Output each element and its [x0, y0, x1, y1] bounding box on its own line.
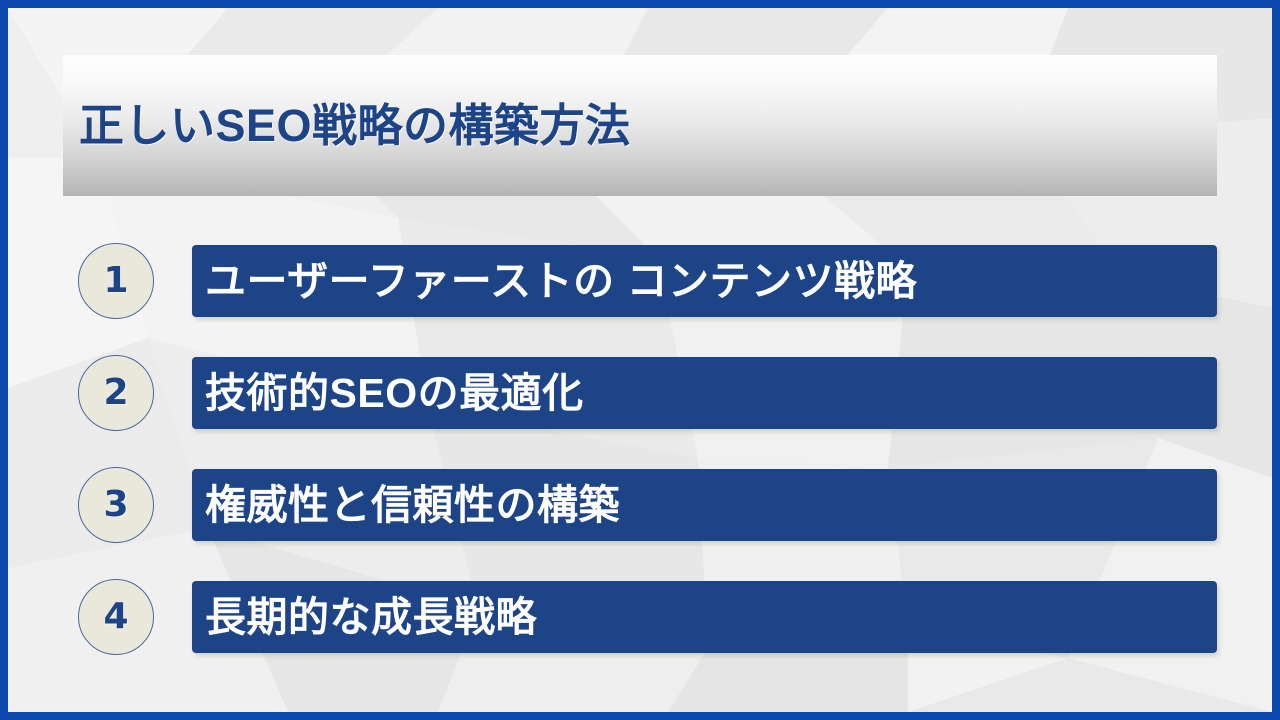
item-bar[interactable]: 長期的な成長戦略: [192, 581, 1217, 653]
item-label: 長期的な成長戦略: [205, 597, 537, 638]
list-item[interactable]: 4 長期的な成長戦略: [8, 579, 1272, 657]
item-number-badge: 4: [78, 579, 154, 655]
item-bar[interactable]: 技術的SEOの最適化: [192, 357, 1217, 429]
item-bar[interactable]: ユーザーファーストの コンテンツ戦略: [192, 245, 1217, 317]
list-item[interactable]: 2 技術的SEOの最適化: [8, 355, 1272, 433]
list-item[interactable]: 1 ユーザーファーストの コンテンツ戦略: [8, 243, 1272, 321]
list-item[interactable]: 3 権威性と信頼性の構築: [8, 467, 1272, 545]
slide-canvas: 正しいSEO戦略の構築方法 1 ユーザーファーストの コンテンツ戦略 2 技術的…: [8, 8, 1272, 712]
item-number-text: 1: [103, 263, 128, 299]
item-label: 技術的SEOの最適化: [205, 373, 584, 414]
numbered-item-list: 1 ユーザーファーストの コンテンツ戦略 2 技術的SEOの最適化 3: [8, 8, 1272, 712]
item-number-badge: 1: [78, 243, 154, 319]
item-number-badge: 2: [78, 355, 154, 431]
item-number-badge: 3: [78, 467, 154, 543]
item-number-text: 3: [103, 487, 128, 523]
item-label: 権威性と信頼性の構築: [205, 485, 620, 526]
item-label: ユーザーファーストの コンテンツ戦略: [205, 261, 917, 302]
slide-root: 正しいSEO戦略の構築方法 1 ユーザーファーストの コンテンツ戦略 2 技術的…: [0, 0, 1280, 720]
item-number-text: 2: [103, 375, 128, 411]
item-number-text: 4: [103, 599, 128, 635]
item-bar[interactable]: 権威性と信頼性の構築: [192, 469, 1217, 541]
